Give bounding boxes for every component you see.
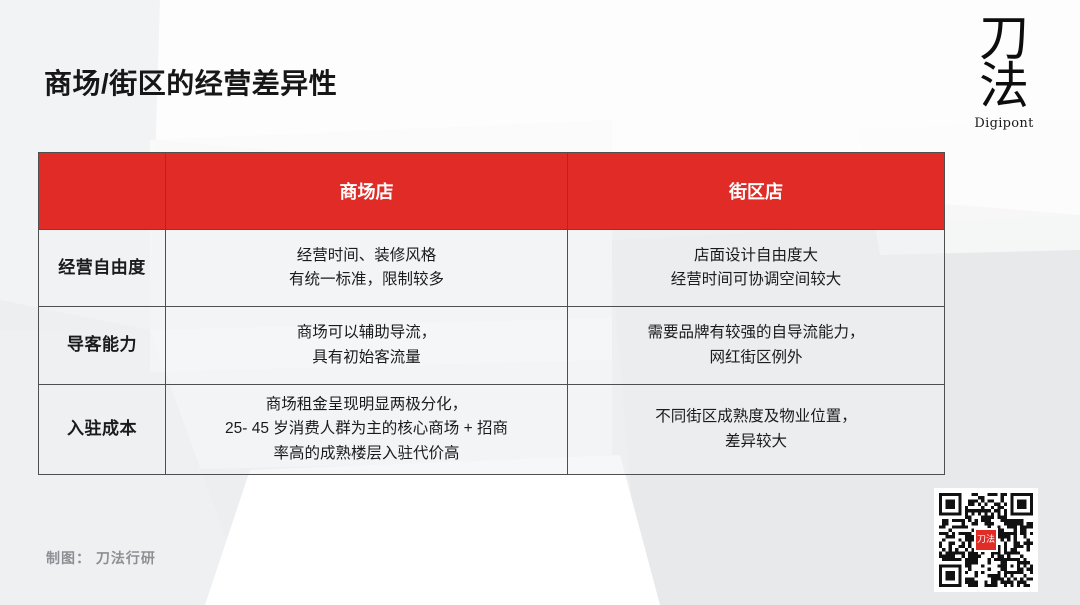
table-row: 导客能力 商场可以辅助导流，具有初始客流量 需要品牌有较强的自导流能力，网红街区… [39,307,945,385]
qr-center-logo: 刀法 [974,528,998,552]
row-label-entry-cost: 入驻成本 [39,385,166,475]
row-label-customer-guidance: 导客能力 [39,307,166,385]
brand-logo: 刀 法 Digipont [950,14,1058,131]
row-label-operating-freedom: 经营自由度 [39,230,166,307]
table-row: 入驻成本 商场租金呈现明显两极分化，25- 45 岁消费人群为主的核心商场 + … [39,385,945,475]
table-header-street: 街区店 [568,153,945,230]
cell-mall-entry-cost: 商场租金呈现明显两极分化，25- 45 岁消费人群为主的核心商场 + 招商率高的… [166,385,568,475]
cell-street-customer-guidance: 需要品牌有较强的自导流能力，网红街区例外 [568,307,945,385]
page-title: 商场/街区的经营差异性 [44,62,337,102]
logo-latin-name: Digipont [950,116,1058,131]
cell-mall-operating-freedom: 经营时间、装修风格有统一标准，限制较多 [166,230,568,307]
cell-mall-customer-guidance: 商场可以辅助导流，具有初始客流量 [166,307,568,385]
logo-char-dao: 刀 [950,14,1058,62]
table-header-row: 商场店 街区店 [39,153,945,230]
qr-code[interactable]: 刀法 [934,488,1038,592]
comparison-table: 商场店 街区店 经营自由度 经营时间、装修风格有统一标准，限制较多 店面设计自由… [38,152,945,475]
cell-street-entry-cost: 不同街区成熟度及物业位置，差异较大 [568,385,945,475]
cell-street-operating-freedom: 店面设计自由度大经营时间可协调空间较大 [568,230,945,307]
logo-char-fa: 法 [950,62,1058,110]
table-row: 经营自由度 经营时间、装修风格有统一标准，限制较多 店面设计自由度大经营时间可协… [39,230,945,307]
table-header-corner [39,153,166,230]
credit-text: 制图： 刀法行研 [46,548,156,568]
table-header-mall: 商场店 [166,153,568,230]
